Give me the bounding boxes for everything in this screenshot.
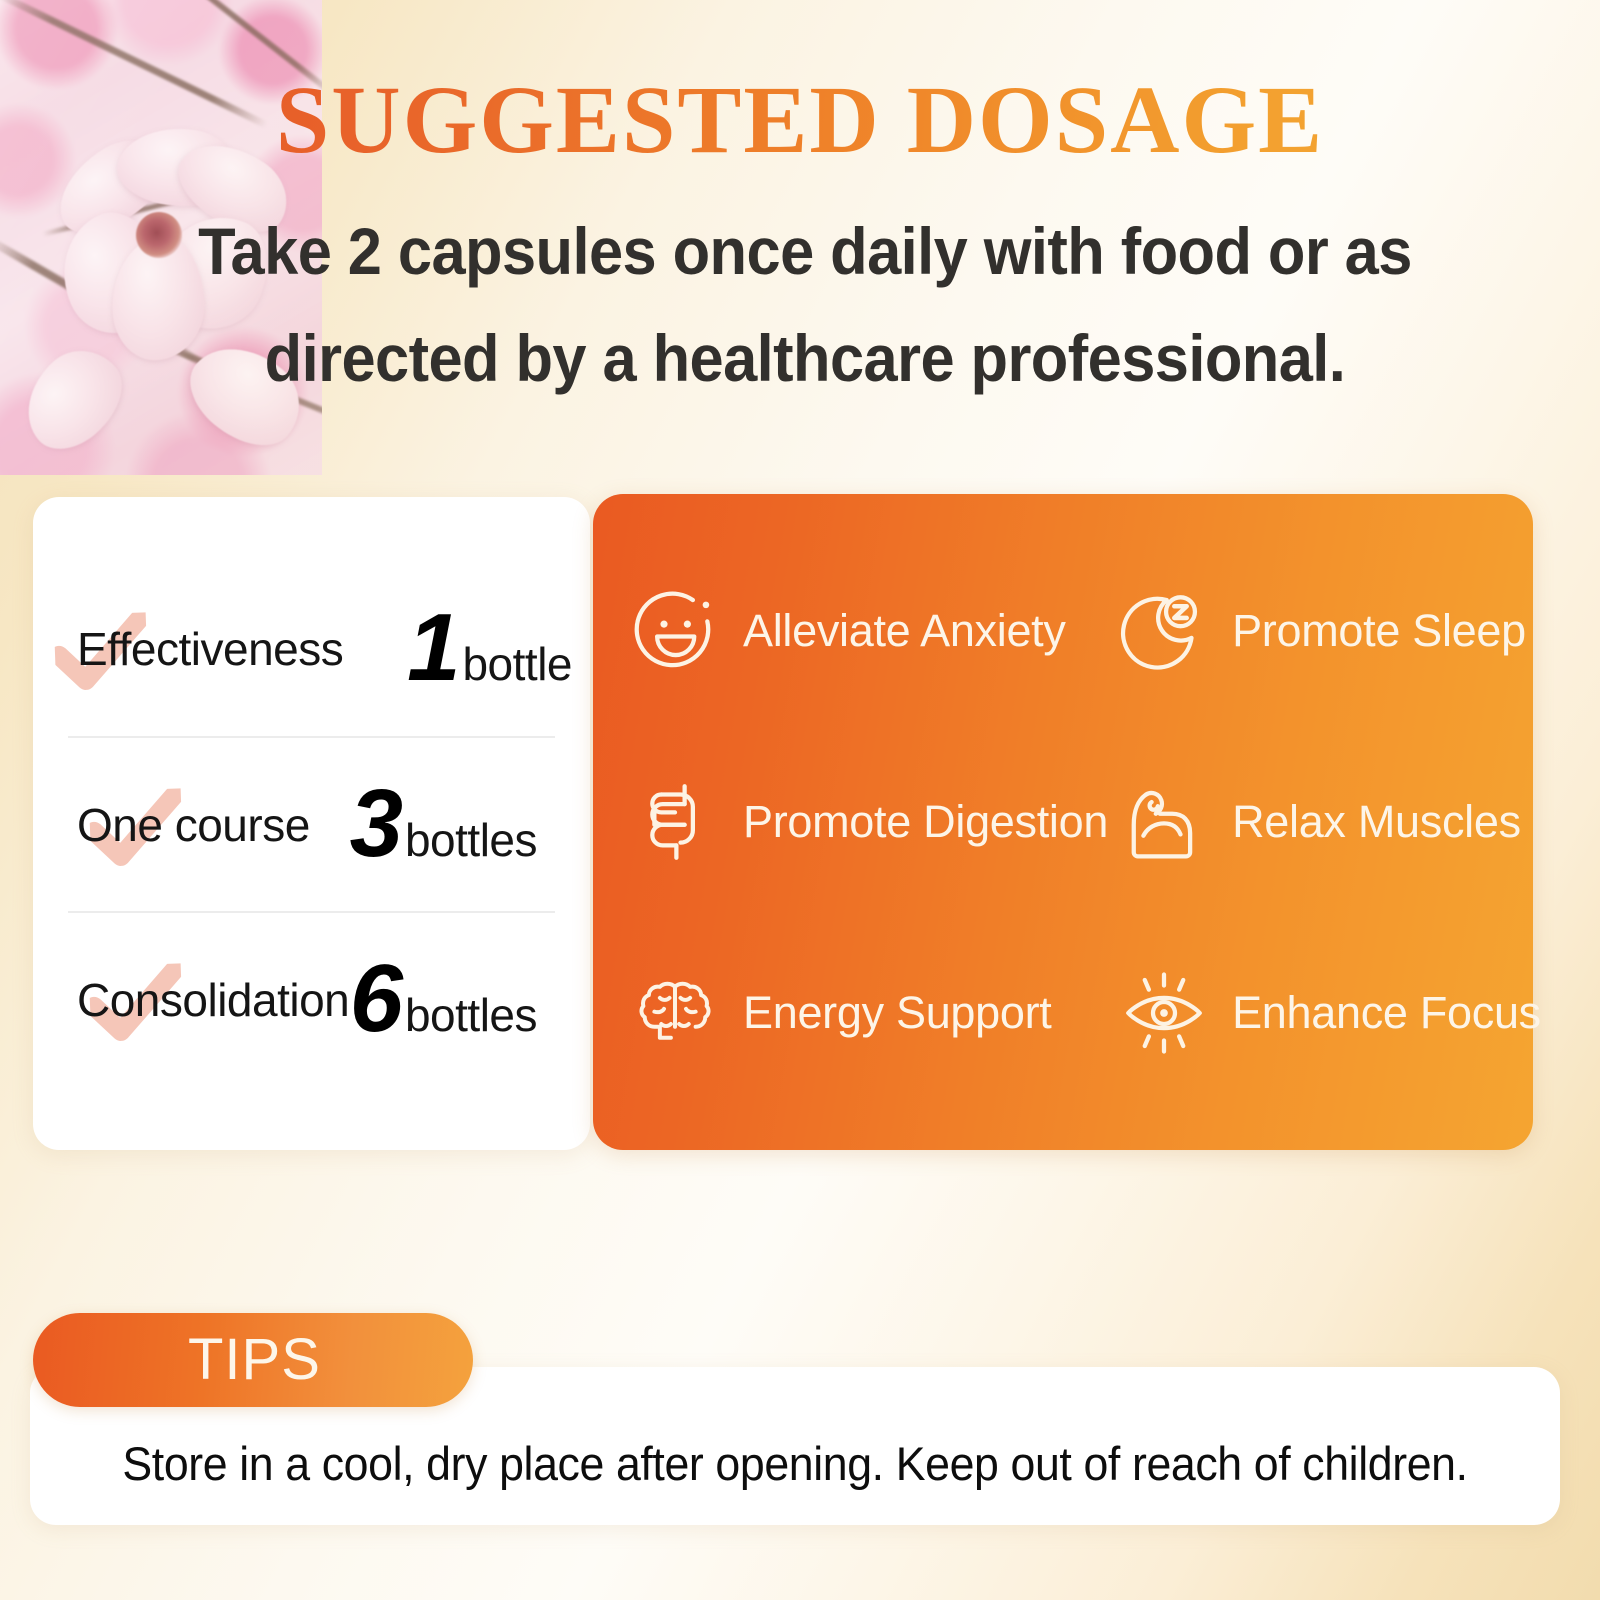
dosage-quantity: 3 bottles bbox=[350, 781, 537, 867]
benefit-label: Relax Muscles bbox=[1232, 796, 1521, 848]
benefits-panel: Alleviate Anxiety Promote Sleep bbox=[593, 494, 1533, 1150]
dosage-schedule-card: Effectiveness 1 bottle One course 3 bott… bbox=[33, 497, 590, 1150]
benefit-enhance-focus: Enhance Focus bbox=[1118, 917, 1541, 1108]
tips-badge-label: TIPS bbox=[188, 1331, 321, 1389]
benefit-relax-muscles: Relax Muscles bbox=[1118, 727, 1541, 918]
dosage-number: 1 bbox=[407, 605, 458, 691]
brain-icon bbox=[629, 967, 721, 1059]
tips-badge: TIPS bbox=[33, 1313, 473, 1407]
benefit-label: Promote Sleep bbox=[1232, 605, 1526, 657]
intestine-icon bbox=[629, 776, 721, 868]
dosage-number: 3 bbox=[350, 781, 401, 867]
benefit-label: Promote Digestion bbox=[743, 796, 1108, 848]
dosage-quantity: 1 bottle bbox=[407, 605, 572, 691]
smiley-face-icon bbox=[629, 585, 721, 677]
dosage-number: 6 bbox=[350, 956, 401, 1042]
dosage-row-effectiveness: Effectiveness 1 bottle bbox=[33, 561, 590, 736]
benefit-label: Energy Support bbox=[743, 987, 1052, 1039]
dosage-row-one-course: One course 3 bottles bbox=[68, 736, 555, 911]
flexed-bicep-icon bbox=[1118, 776, 1210, 868]
dosage-quantity: 6 bottles bbox=[350, 956, 537, 1042]
dosage-row-consolidation: Consolidation 6 bottles bbox=[68, 911, 555, 1086]
benefit-promote-digestion: Promote Digestion bbox=[629, 727, 1108, 918]
dosage-label: Consolidation bbox=[77, 973, 349, 1027]
tips-body-text: Store in a cool, dry place after opening… bbox=[122, 1402, 1467, 1491]
eye-rays-icon bbox=[1118, 967, 1210, 1059]
benefit-label: Enhance Focus bbox=[1232, 987, 1541, 1039]
dosage-infographic: SUGGESTED DOSAGE Take 2 capsules once da… bbox=[0, 0, 1600, 1600]
moon-zzz-icon bbox=[1118, 585, 1210, 677]
benefit-label: Alleviate Anxiety bbox=[743, 605, 1066, 657]
benefit-promote-sleep: Promote Sleep bbox=[1118, 536, 1541, 727]
dosage-label: One course bbox=[77, 798, 310, 852]
dosage-label: Effectiveness bbox=[77, 622, 343, 676]
dosage-unit: bottles bbox=[405, 813, 537, 867]
benefit-energy-support: Energy Support bbox=[629, 917, 1108, 1108]
page-title: SUGGESTED DOSAGE bbox=[0, 72, 1600, 168]
benefit-alleviate-anxiety: Alleviate Anxiety bbox=[629, 536, 1108, 727]
dosage-unit: bottle bbox=[462, 637, 572, 691]
dosage-unit: bottles bbox=[405, 988, 537, 1042]
page-subtitle: Take 2 capsules once daily with food or … bbox=[187, 198, 1424, 412]
